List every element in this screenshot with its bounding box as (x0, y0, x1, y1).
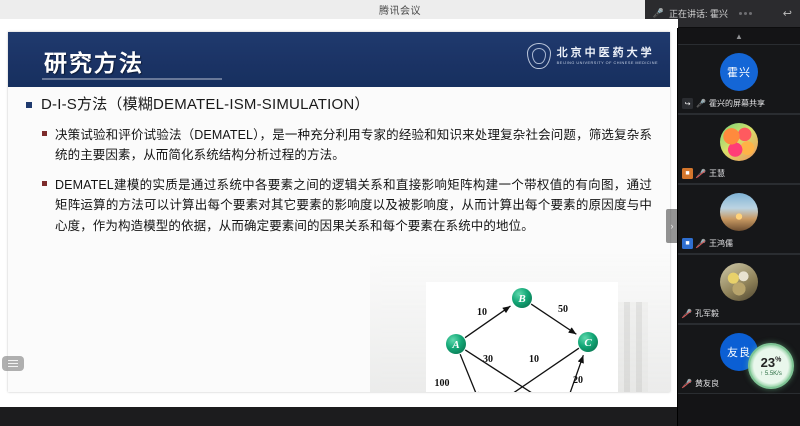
slide-paragraph-2: DEMATEL建模的实质是通过系统中各要素之间的逻辑关系和直接影响矩阵构建一个带… (42, 175, 652, 236)
more-options-icon[interactable] (739, 12, 752, 15)
slide-body: D-I-S方法（模糊DEMATEL-ISM-SIMULATION） 决策试验和评… (8, 87, 670, 392)
slide-header: 研究方法 北京中医药大学 BEIJING UNIVERSITY OF CHINE… (8, 32, 670, 87)
participant-tile[interactable]: ■🎤王慧 (678, 114, 800, 184)
presentation-slide: 研究方法 北京中医药大学 BEIJING UNIVERSITY OF CHINE… (8, 32, 670, 392)
participant-tile[interactable]: ■🎤王鸿儒 (678, 184, 800, 254)
university-logo: 北京中医药大学 BEIJING UNIVERSITY OF CHINESE ME… (527, 43, 658, 69)
graph-edge-weight: 10 (477, 307, 487, 318)
participant-name-row: 🎤黄友良 (682, 378, 719, 389)
network-speed: ↑ 5.5K/s (760, 371, 782, 377)
bullet-square-icon (26, 102, 32, 108)
avatar: 霍兴 (720, 53, 758, 91)
network-percent: 23% (761, 356, 782, 369)
chevron-up-icon[interactable]: ▲ (678, 28, 800, 44)
bullet-square-icon (42, 181, 47, 186)
graph-edge-weight: 10 (529, 354, 539, 365)
graph-node-label: B (517, 293, 525, 305)
slide-paragraph-1: 决策试验和评价试验法（DEMATEL），是一种充分利用专家的经验和知识来处理复杂… (42, 125, 652, 166)
participant-tile[interactable]: 霍兴↪🎤霍兴的屏幕共享 (678, 44, 800, 114)
graph-node-label: A (451, 339, 459, 351)
graph-edge (567, 355, 584, 392)
university-name-cn: 北京中医药大学 (557, 47, 658, 59)
participant-name: 孔军毅 (695, 308, 719, 319)
shield-icon (527, 43, 551, 69)
graph-edge-weight: 100 (435, 378, 450, 389)
mic-icon: 🎤 (653, 8, 664, 19)
slide-heading-bullet: D-I-S方法（模糊DEMATEL-ISM-SIMULATION） (26, 95, 650, 115)
avatar (720, 123, 758, 161)
bullet-square-icon (42, 131, 47, 136)
participant-name: 王鸿儒 (709, 238, 733, 249)
mic-muted-icon: 🎤 (682, 310, 692, 318)
shared-screen-area: 研究方法 北京中医药大学 BEIJING UNIVERSITY OF CHINE… (0, 19, 678, 407)
mic-muted-icon: 🎤 (696, 170, 706, 178)
graph-edge-weight: 20 (573, 375, 583, 386)
paragraph-text: 决策试验和评价试验法（DEMATEL），是一种充分利用专家的经验和知识来处理复杂… (55, 125, 652, 166)
slide-menu-icon[interactable] (2, 356, 24, 371)
back-arrow-icon[interactable]: ↩ (783, 7, 792, 20)
paragraph-text: DEMATEL建模的实质是通过系统中各要素之间的逻辑关系和直接影响矩阵构建一个带… (55, 175, 652, 236)
title-underline (42, 78, 222, 80)
participant-tile-list: 霍兴↪🎤霍兴的屏幕共享■🎤王慧■🎤王鸿儒🎤孔军毅友良🎤黄友良23%↑ 5.5K/… (678, 44, 800, 394)
participant-sidebar[interactable]: ▲ 霍兴↪🎤霍兴的屏幕共享■🎤王慧■🎤王鸿儒🎤孔军毅友良🎤黄友良23%↑ 5.5… (677, 28, 800, 426)
participant-name-row: 🎤孔军毅 (682, 308, 719, 319)
avatar (720, 193, 758, 231)
screen-share-icon: ↪ (682, 98, 693, 109)
mic-icon: 🎤 (696, 100, 706, 108)
participant-tile[interactable]: 友良🎤黄友良23%↑ 5.5K/s (678, 324, 800, 394)
avatar (720, 263, 758, 301)
graph-edge-weight: 50 (558, 304, 568, 315)
video-off-icon: ■ (682, 238, 693, 249)
participant-name: 黄友良 (695, 378, 719, 389)
participant-name-row: ■🎤王慧 (682, 168, 725, 179)
participant-name: 王慧 (709, 168, 725, 179)
mic-muted-icon: 🎤 (696, 240, 706, 248)
video-off-icon: ■ (682, 168, 693, 179)
slide-title: 研究方法 (44, 44, 144, 78)
participant-name: 霍兴的屏幕共享 (709, 98, 765, 109)
participant-name-row: ■🎤王鸿儒 (682, 238, 733, 249)
dematel-graph-svg: ABCDE 105030101002060 (426, 282, 618, 392)
graph-edge (460, 354, 479, 392)
tencent-meeting-window: 腾讯会议 🎤 正在讲话: 霍兴 ↩ 研究方法 北京中医药大学 BEIJING U… (0, 0, 800, 426)
participant-name-row: ↪🎤霍兴的屏幕共享 (682, 98, 765, 109)
mic-muted-icon: 🎤 (682, 380, 692, 388)
graph-node-label: C (584, 337, 592, 349)
university-name-en: BEIJING UNIVERSITY OF CHINESE MEDICINE (557, 61, 658, 65)
graph-edge-weight: 30 (483, 354, 493, 365)
participant-tile[interactable]: 🎤孔军毅 (678, 254, 800, 324)
graph-edge (531, 304, 576, 334)
dematel-graph-figure: ABCDE 105030101002060 (426, 282, 618, 392)
slide-heading-text: D-I-S方法（模糊DEMATEL-ISM-SIMULATION） (41, 95, 370, 115)
network-status-badge: 23%↑ 5.5K/s (748, 343, 794, 389)
graph-edge (465, 306, 510, 338)
